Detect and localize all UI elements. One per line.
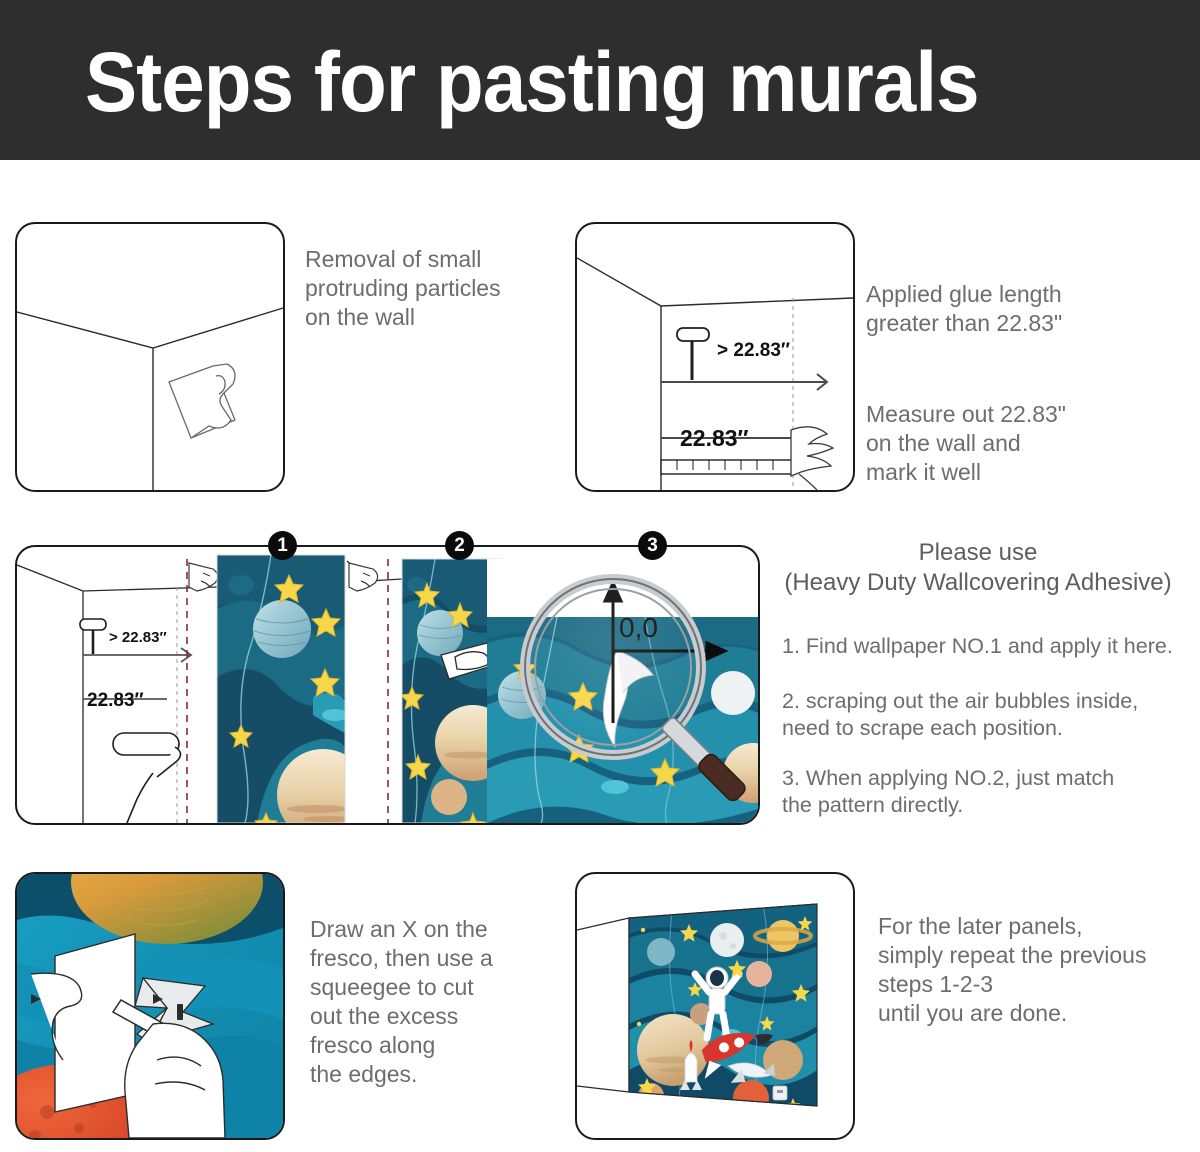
- svg-text:22.83″: 22.83″: [87, 690, 144, 711]
- page-title: Steps for pasting murals: [85, 36, 979, 128]
- illustration-finished-mural: [575, 872, 855, 1140]
- illustration-scrape-wall: [15, 222, 285, 492]
- step-badge-3: 3: [638, 531, 667, 560]
- label-greater-than: > 22.83″: [717, 340, 790, 361]
- illustration-cut-excess: [15, 872, 285, 1140]
- svg-text:> 22.83″: > 22.83″: [109, 629, 167, 646]
- caption-mark-wall: Measure out 22.83" on the wall and mark …: [866, 400, 1176, 487]
- strip-instruction-1: 1. Find wallpaper NO.1 and apply it here…: [782, 633, 1182, 660]
- step-badge-2: 2: [445, 531, 474, 560]
- illustration-measure-wall: > 22.83″ 22.83″: [575, 222, 855, 492]
- adhesive-heading: Please use (Heavy Duty Wallcovering Adhe…: [768, 538, 1188, 598]
- illustration-apply-panels: > 22.83″ 22.83″: [15, 545, 760, 825]
- caption-scrape: Removal of small protruding particles on…: [305, 245, 575, 332]
- header-banner: Steps for pasting murals: [0, 0, 1200, 160]
- caption-repeat-steps: For the later panels, simply repeat the …: [878, 912, 1200, 1028]
- strip-instruction-2: 2. scraping out the air bubbles inside, …: [782, 688, 1182, 742]
- step-badge-1: 1: [268, 531, 297, 560]
- label-measure: 22.83″: [680, 425, 749, 451]
- strip-instruction-3: 3. When applying NO.2, just match the pa…: [782, 765, 1182, 819]
- caption-glue-length: Applied glue length greater than 22.83": [866, 280, 1166, 338]
- caption-cut-excess: Draw an X on the fresco, then use a sque…: [310, 915, 590, 1089]
